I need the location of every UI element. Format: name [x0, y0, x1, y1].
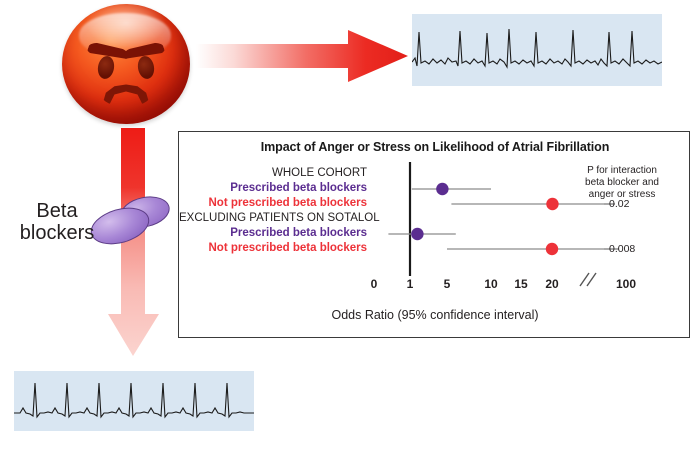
x-axis-tick-15: 15 — [506, 277, 536, 291]
forest-row-label: Prescribed beta blockers — [179, 228, 367, 240]
beta-blockers-caption: Beta blockers — [14, 200, 100, 245]
beta-blockers-caption-line2: blockers — [14, 222, 100, 244]
ecg-atrial-fibrillation-strip — [412, 14, 662, 86]
x-axis-tick-100: 100 — [611, 277, 641, 291]
forest-plot-point — [546, 243, 558, 255]
forest-group-header: WHOLE COHORT — [179, 168, 367, 180]
forest-plot-point — [411, 228, 423, 240]
x-axis-tick-10: 10 — [476, 277, 506, 291]
infographic-canvas: Beta blockers Impact of Anger or Stress … — [0, 0, 696, 449]
forest-plot-point — [436, 183, 448, 195]
forest-row-label: Not prescribed beta blockers — [179, 243, 367, 255]
stress-arrow-icon — [196, 29, 408, 83]
forest-row-label: Not prescribed beta blockers — [179, 198, 367, 210]
ecg-sinus-rhythm-strip — [14, 371, 254, 431]
p-interaction-value: 0.008 — [609, 243, 635, 255]
p-interaction-value: 0.02 — [609, 198, 629, 210]
forest-row-label: Prescribed beta blockers — [179, 183, 367, 195]
forest-plot-panel: Impact of Anger or Stress on Likelihood … — [178, 131, 690, 338]
x-axis-title: Odds Ratio (95% confidence interval) — [179, 308, 691, 322]
forest-plot-point — [546, 198, 558, 210]
x-axis-tick-5: 5 — [432, 277, 462, 291]
x-axis-tick-20: 20 — [537, 277, 567, 291]
beta-blocker-pills-icon — [88, 196, 170, 250]
beta-blockers-caption-line1: Beta — [14, 200, 100, 222]
x-axis-tick-1: 1 — [395, 277, 425, 291]
forest-group-header: EXCLUDING PATIENTS ON SOTALOL — [179, 213, 367, 225]
angry-face-emoji — [62, 4, 190, 124]
x-axis-tick-0: 0 — [359, 277, 389, 291]
